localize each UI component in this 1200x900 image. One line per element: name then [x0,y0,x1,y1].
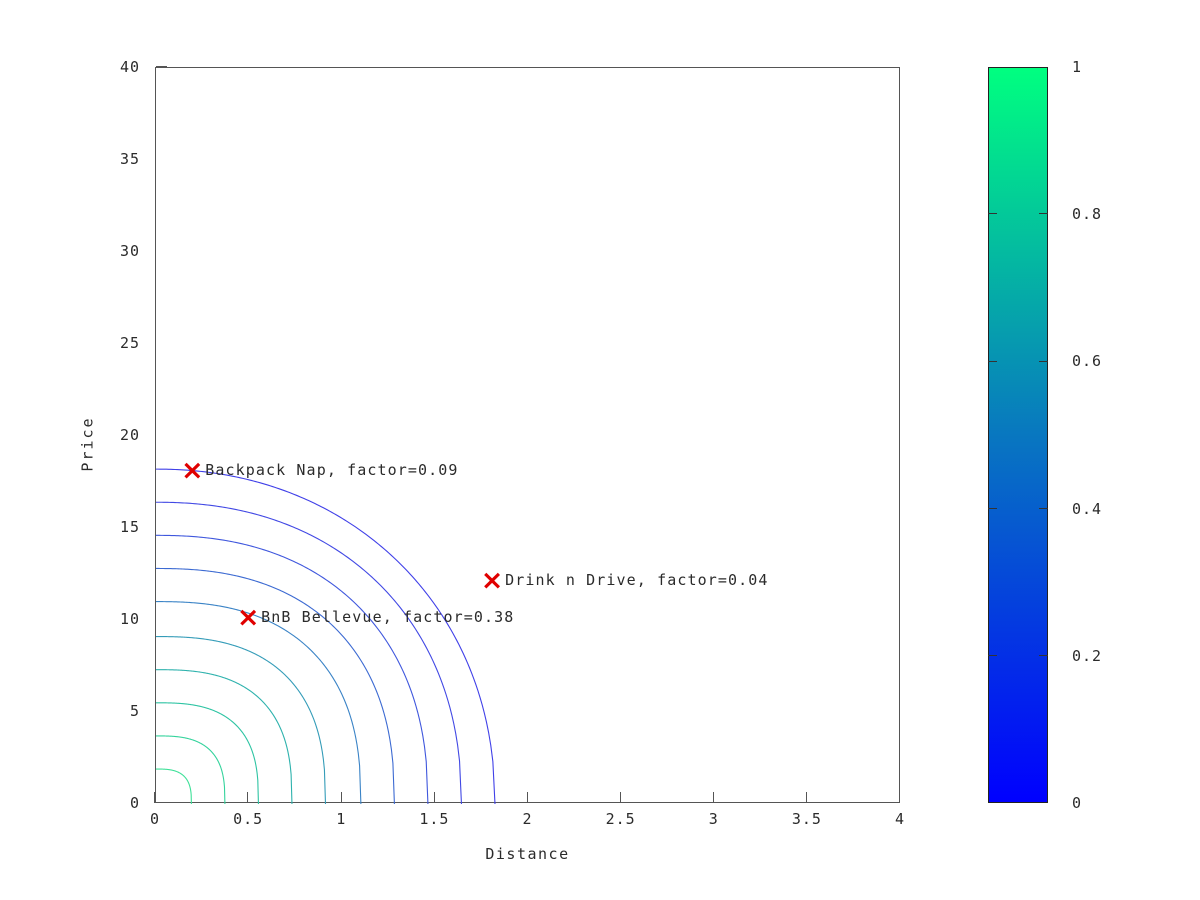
colorbar-tick-mark [988,508,997,509]
x-tick-mark [341,792,342,803]
x-tick-label: 0.5 [233,810,263,828]
cross-marker-icon: × [235,603,261,635]
x-tick-label: 0 [150,810,160,828]
y-axis-title: Price [79,416,97,471]
x-tick-mark [527,792,528,803]
x-tick-label: 2.5 [606,810,636,828]
colorbar-gradient [988,67,1048,803]
colorbar-tick-label: 0 [1072,794,1082,812]
x-tick-mark [713,792,714,803]
colorbar-tick-label: 0.4 [1072,500,1102,518]
x-tick-mark [899,792,900,803]
colorbar-tick-label: 0.6 [1072,352,1102,370]
y-tick-label: 0 [130,794,140,812]
colorbar-tick-label: 1 [1072,58,1082,76]
contour-line [156,502,461,804]
y-tick-label: 20 [120,426,140,444]
x-tick-mark [247,792,248,803]
colorbar-tick-mark [988,361,997,362]
x-tick-label: 4 [895,810,905,828]
y-tick-label: 35 [120,150,140,168]
colorbar [988,67,1048,803]
colorbar-tick-label: 0.2 [1072,647,1102,665]
cross-marker-icon: × [179,456,205,488]
x-tick-mark [620,792,621,803]
x-tick-label: 3.5 [792,810,822,828]
x-tick-mark [434,792,435,803]
y-tick-label: 5 [130,702,140,720]
colorbar-tick-label: 0.8 [1072,205,1102,223]
colorbar-tick-mark [1039,508,1048,509]
x-tick-label: 3 [709,810,719,828]
x-tick-label: 2 [522,810,532,828]
y-tick-label: 40 [120,58,140,76]
x-tick-mark [806,792,807,803]
marker-label: Drink n Drive, factor=0.04 [505,571,768,589]
contour-line [156,469,495,804]
marker-label: Backpack Nap, factor=0.09 [205,461,458,479]
contour-line [156,703,258,804]
y-tick-label: 10 [120,610,140,628]
colorbar-tick-mark [1039,213,1048,214]
contour-line [156,769,191,804]
contour-plot-figure: Price 0510152025303540 ×Backpack Nap, fa… [0,0,1200,900]
x-tick-label: 1.5 [419,810,449,828]
cross-marker-icon: × [479,566,505,598]
colorbar-tick-mark [988,213,997,214]
x-tick-label: 1 [336,810,346,828]
contour-line [156,568,394,804]
contour-line [156,637,325,804]
plot-area [155,67,900,803]
marker-label: BnB Bellevue, factor=0.38 [261,608,514,626]
contour-lines [156,68,901,804]
contour-line [156,535,428,804]
colorbar-tick-mark [988,655,997,656]
colorbar-tick-mark [1039,361,1048,362]
y-tick-label: 15 [120,518,140,536]
y-tick-label: 25 [120,334,140,352]
contour-line [156,736,225,804]
x-axis-title: Distance [0,845,1055,863]
x-tick-mark [154,792,155,803]
colorbar-tick-mark [1039,655,1048,656]
y-tick-label: 30 [120,242,140,260]
